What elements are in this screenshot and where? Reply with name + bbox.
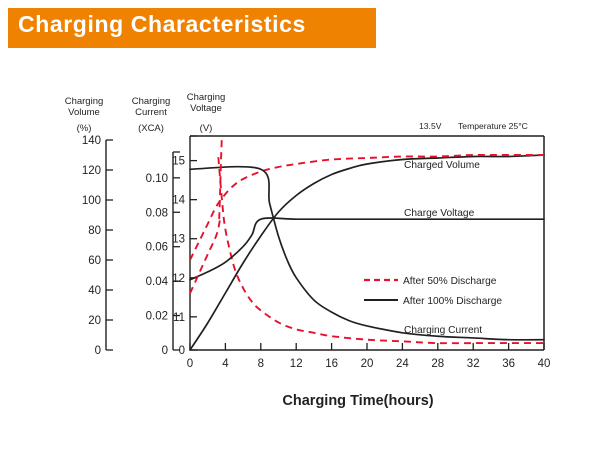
legend-label-100: After 100% Discharge <box>403 296 502 307</box>
page-title: Charging Characteristics <box>18 11 306 38</box>
x-axis-caption: Charging Time(hours) <box>282 393 433 409</box>
axis-title-volume-line2: Volume <box>68 107 100 118</box>
axis-title-volume: Charging Volume (%) <box>65 96 104 134</box>
x-tick-label-9: 36 <box>502 358 515 370</box>
axis-title-voltage-line1: Charging <box>187 92 226 103</box>
series-4-voltage-solid <box>190 218 544 280</box>
y-tick-label-volume-1: 20 <box>88 315 101 327</box>
axis-title-voltage-line2: Voltage <box>190 103 222 114</box>
y-tick-label-current-4: 0.08 <box>146 207 168 219</box>
chart-container: Charging Volume (%) Charging Current (XC… <box>0 52 600 451</box>
x-tick-label-4: 16 <box>325 358 338 370</box>
chart-legend: After 50% Discharge After 100% Discharge <box>364 276 502 307</box>
axis-title-current-line1: Charging <box>132 96 171 107</box>
y-tick-label-voltage-3: 13 <box>172 234 185 246</box>
y-tick-label-voltage-4: 14 <box>172 195 185 207</box>
curve-layer <box>190 137 544 350</box>
y-tick-label-voltage-2: 12 <box>172 273 185 285</box>
annotation-voltage: 13.5V <box>419 121 442 131</box>
plot-frame <box>190 136 544 350</box>
axis-title-voltage: Charging Voltage (V) <box>187 92 226 134</box>
y-tick-label-current-1: 0.02 <box>146 311 168 323</box>
x-tick-label-8: 32 <box>467 358 480 370</box>
y-tick-label-voltage-0: 0 <box>179 345 185 357</box>
series-0-volume-solid <box>190 155 544 350</box>
series-1-volume-dashed <box>190 155 544 260</box>
y-axis-current: 00.020.040.060.080.10 <box>146 152 180 357</box>
curve-label-charge-voltage: Charge Voltage <box>404 208 475 219</box>
y-tick-label-current-0: 0 <box>162 345 168 357</box>
x-tick-label-6: 24 <box>396 358 409 370</box>
series-2-current-solid <box>190 167 544 340</box>
series-3-current-dashed <box>218 157 544 343</box>
axis-unit-voltage: (V) <box>200 123 213 134</box>
curve-label-charged-volume: Charged Volume <box>404 160 480 171</box>
y-tick-label-voltage-1: 11 <box>173 312 185 324</box>
y-tick-label-volume-7: 140 <box>82 135 101 147</box>
annotation-temperature: Temperature 25°C <box>458 121 528 131</box>
axis-title-volume-line1: Charging <box>65 96 104 107</box>
series-5-voltage-dashed <box>190 219 220 293</box>
x-tick-label-5: 20 <box>361 358 374 370</box>
x-axis-ticks: 0481216202428323640 <box>187 343 551 370</box>
y-tick-label-volume-2: 40 <box>88 285 101 297</box>
y-tick-label-current-2: 0.04 <box>146 276 169 288</box>
y-tick-label-volume-3: 60 <box>88 255 101 267</box>
x-tick-label-0: 0 <box>187 358 193 370</box>
x-tick-label-7: 28 <box>431 358 444 370</box>
legend-label-50: After 50% Discharge <box>403 276 497 287</box>
y-tick-label-volume-6: 120 <box>82 165 101 177</box>
series-6-voltage-dashed <box>219 137 222 219</box>
x-tick-label-2: 8 <box>258 358 264 370</box>
y-tick-label-volume-5: 100 <box>82 195 101 207</box>
x-tick-label-3: 12 <box>290 358 303 370</box>
y-tick-label-volume-4: 80 <box>88 225 101 237</box>
y-axis-volume: 020406080100120140 <box>82 135 113 357</box>
y-tick-label-voltage-5: 15 <box>172 156 185 168</box>
axis-title-current-line2: Current <box>135 107 167 118</box>
x-tick-label-10: 40 <box>538 358 551 370</box>
axis-unit-volume: (%) <box>77 123 92 134</box>
y-tick-label-current-5: 0.10 <box>146 173 168 185</box>
axis-title-current: Charging Current (XCA) <box>132 96 171 134</box>
condition-annotation: 13.5V Temperature 25°C <box>419 121 528 131</box>
y-tick-label-current-3: 0.06 <box>146 242 168 254</box>
charging-characteristics-chart: Charging Volume (%) Charging Current (XC… <box>0 52 600 451</box>
y-tick-label-volume-0: 0 <box>95 345 101 357</box>
axis-unit-current: (XCA) <box>138 123 164 134</box>
x-tick-label-1: 4 <box>222 358 229 370</box>
slide-canvas: Charging Characteristics Charging Volume… <box>0 0 600 451</box>
curve-label-charging-current: Charging Current <box>404 325 482 336</box>
